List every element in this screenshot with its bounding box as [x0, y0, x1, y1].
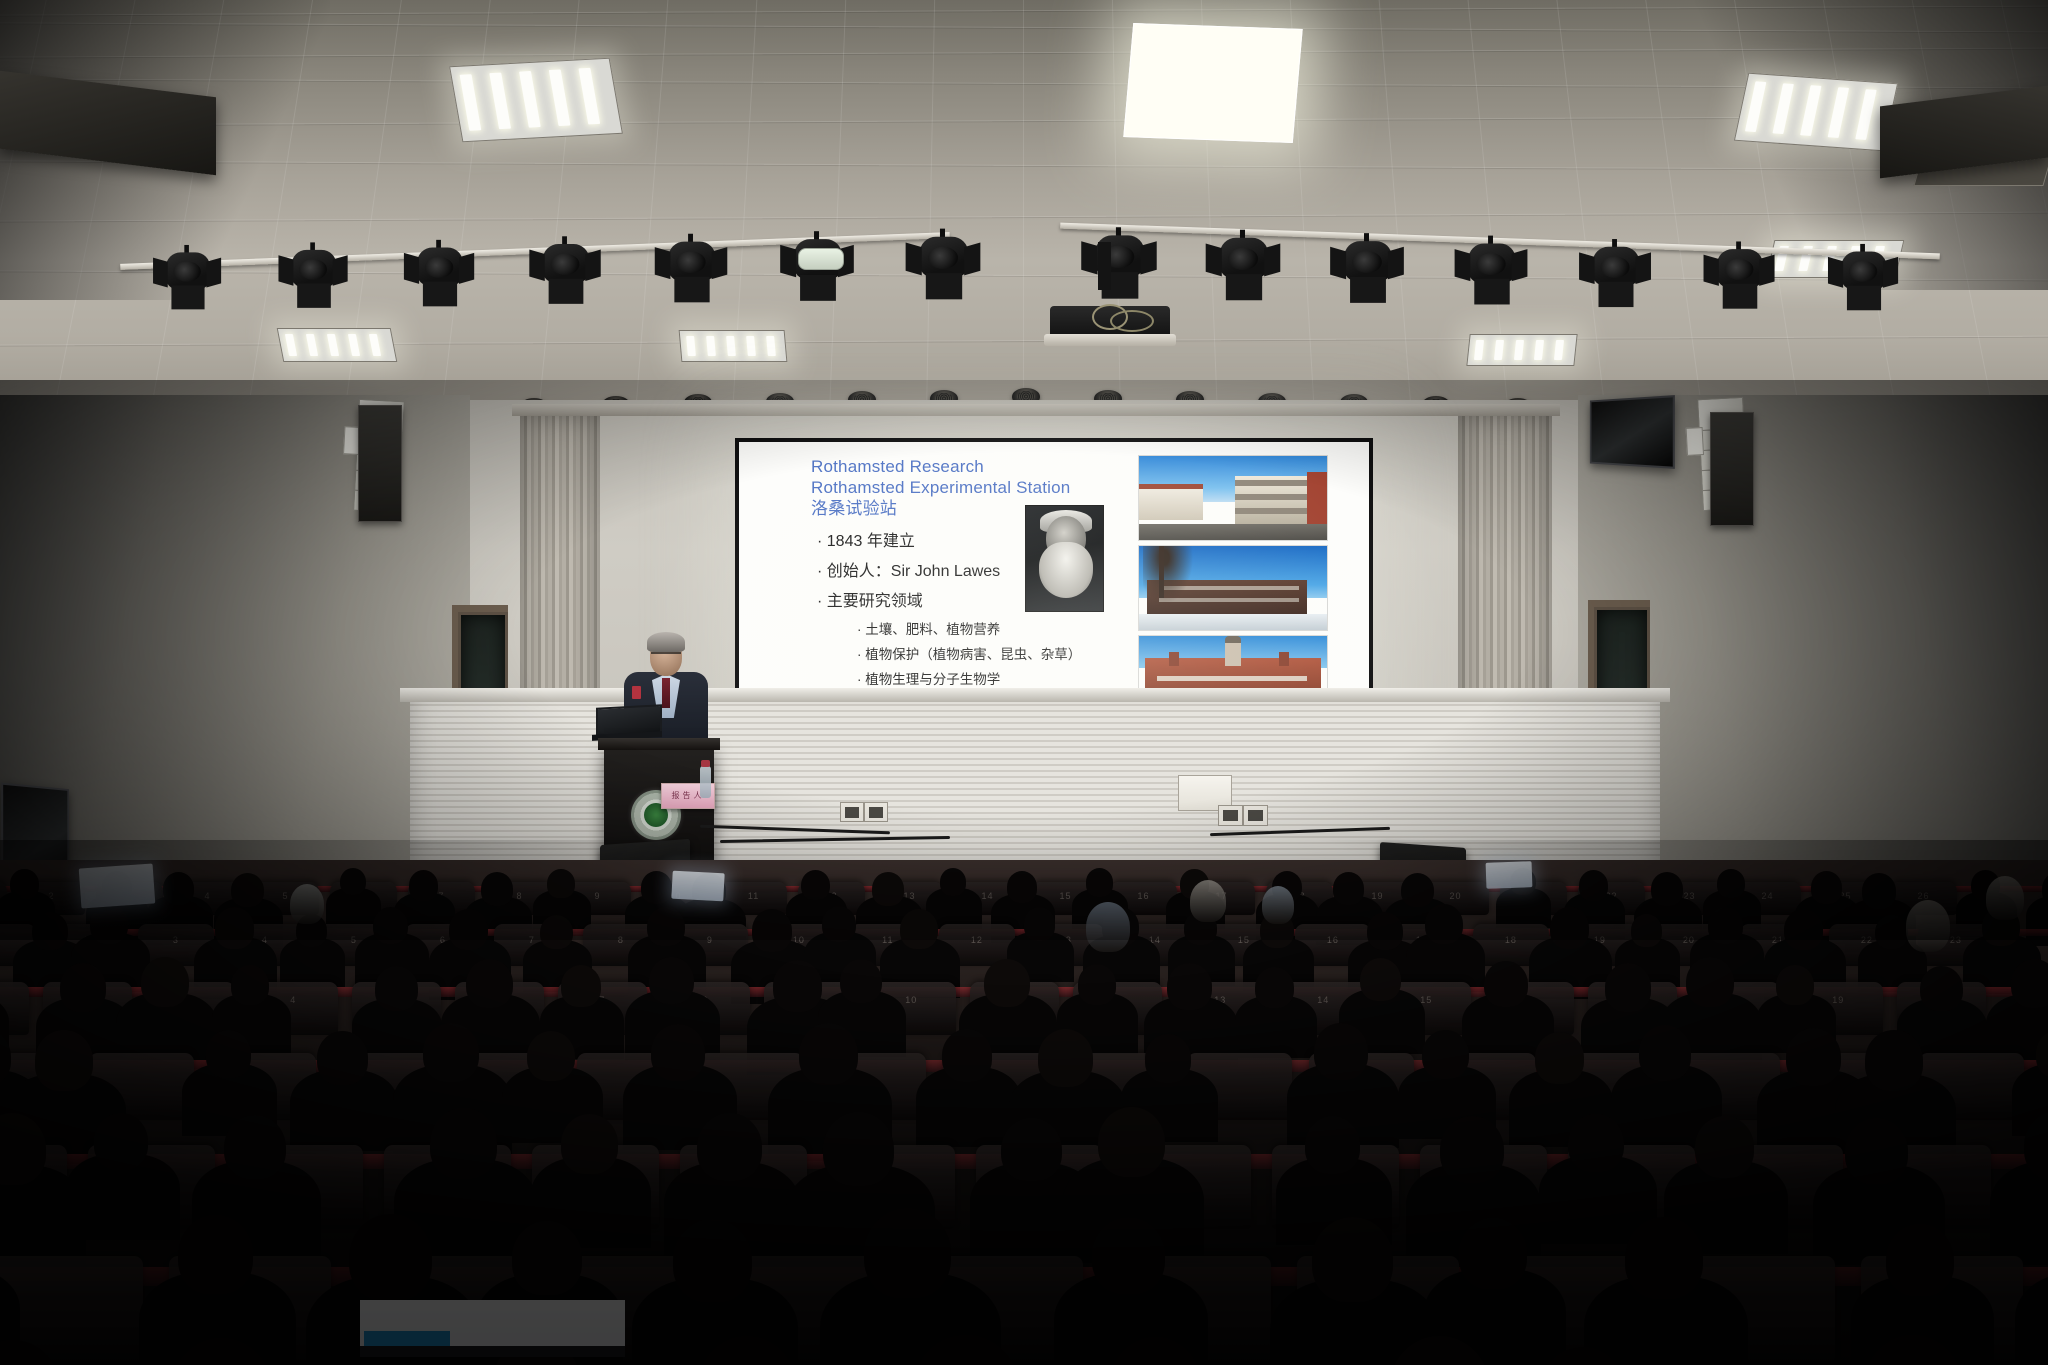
- spotlight-barn-door: [906, 242, 922, 275]
- slide-photo-modern-research-building: [1139, 456, 1327, 540]
- audience-member-lit: [1086, 902, 1130, 952]
- stage-spotlight: [1702, 241, 1779, 312]
- audience-member-head: [823, 1112, 894, 1186]
- spotlight-barn-door: [1759, 255, 1774, 286]
- spotlight-lens: [173, 262, 201, 282]
- ceiling: [0, 0, 2048, 420]
- audience-member-head: [60, 963, 106, 1011]
- audience-member-head: [527, 1031, 575, 1081]
- audience-member-head: [1440, 1116, 1504, 1183]
- stage-spotlight: [277, 242, 352, 311]
- audience-member-head: [561, 965, 601, 1007]
- audience-member-head: [1605, 963, 1651, 1011]
- attendee-laptop-screen: [1486, 861, 1533, 889]
- audience-member-head: [231, 965, 269, 1005]
- audience-member-head: [1422, 1030, 1469, 1079]
- audience-member-head: [1459, 1218, 1527, 1289]
- audience-member-head: [540, 915, 573, 950]
- presenter-laptop[interactable]: [592, 706, 662, 740]
- audience-member-head: [317, 1031, 368, 1085]
- audience-member-head: [373, 907, 408, 944]
- audience-member-head: [649, 957, 694, 1004]
- spotlight-barn-door: [1635, 252, 1651, 284]
- audience-member-head: [1886, 1224, 1954, 1296]
- projector-mount-pole: [1098, 242, 1111, 290]
- audience-member-lit: [1190, 880, 1226, 922]
- spotlight-barn-door: [1388, 247, 1404, 279]
- seat-number: 11: [748, 891, 759, 901]
- spotlight-barn-door: [1847, 286, 1881, 311]
- spotlight-barn-door: [1828, 257, 1843, 288]
- seat-number: 1: [0, 935, 1, 945]
- audience-member-head: [1865, 1030, 1922, 1090]
- audience-member-head: [466, 959, 513, 1008]
- audience-member-head: [1078, 964, 1117, 1005]
- audience-member-head: [340, 868, 366, 895]
- audience-member-head: [1686, 957, 1734, 1007]
- audience-member-head: [1651, 872, 1683, 906]
- stage-spotlight: [904, 228, 985, 303]
- audience-member-head: [799, 1023, 858, 1085]
- audience-member-head: [2011, 959, 2048, 1008]
- audience-member-head: [1875, 915, 1908, 950]
- spotlight-lens: [1600, 256, 1629, 277]
- ceiling-grid-line: [926, 0, 935, 420]
- ceiling-grid-line: [829, 0, 846, 420]
- spotlight-barn-door: [800, 275, 836, 301]
- audience-member-head: [141, 957, 189, 1007]
- audience-member-head: [641, 871, 672, 904]
- wall-speaker-dark-right: [1710, 412, 1754, 526]
- seat-number: 15: [1060, 891, 1072, 901]
- ceiling-projector: [1050, 286, 1170, 342]
- audience-member-head: [1086, 868, 1113, 896]
- seat-number: 3: [173, 935, 179, 945]
- audience-member-head: [1786, 1028, 1841, 1086]
- spotlight-barn-door: [423, 281, 457, 306]
- wall-outlet[interactable]: [864, 802, 888, 822]
- wall-mounted-display-right: [1590, 395, 1675, 469]
- spotlight-barn-door: [674, 277, 709, 302]
- audience-member-head: [697, 1113, 762, 1181]
- stage-spotlight: [151, 245, 225, 313]
- attendee-laptop-screen: [79, 863, 156, 908]
- bullet-marker: ·: [817, 563, 827, 580]
- podium-top: [598, 738, 720, 750]
- audience-member-head: [449, 909, 488, 950]
- audience-member-head: [1007, 871, 1038, 903]
- seat-number: 16: [1327, 935, 1339, 945]
- audience-member-head: [1360, 958, 1401, 1001]
- audience-member-lit: [1262, 886, 1294, 924]
- wall-outlet[interactable]: [1218, 805, 1243, 826]
- audience-member-head: [1579, 870, 1608, 901]
- audience-member-head: [215, 907, 255, 949]
- bullet-text: 土壤、肥料、植物营养: [865, 622, 1000, 637]
- laptop-screen-tile: [364, 1331, 450, 1346]
- seat-number: 8: [618, 935, 624, 945]
- wall-outlet[interactable]: [1243, 805, 1268, 826]
- audience-member-head: [1425, 904, 1463, 944]
- audience-member-head: [1401, 873, 1434, 908]
- audience-member-head: [163, 872, 195, 905]
- audience-member-head: [1333, 872, 1365, 905]
- stage-spotlight: [1453, 236, 1532, 309]
- seat-number: 10: [905, 995, 917, 1005]
- audience-member-head: [206, 1030, 251, 1078]
- bullet-marker: ·: [817, 593, 827, 610]
- seat-number: 24: [1762, 891, 1774, 901]
- spotlight-barn-door: [1704, 255, 1719, 286]
- audience-member-head: [647, 907, 684, 946]
- spotlight-barn-door: [549, 279, 584, 304]
- audience-member-head: [1001, 1118, 1061, 1181]
- ceiling-grid-line: [1379, 0, 1413, 420]
- spotlight-barn-door: [171, 285, 204, 309]
- audience-member-head: [10, 869, 38, 899]
- presenter-hair: [647, 632, 685, 652]
- seat-number: 18: [1505, 935, 1517, 945]
- spotlight-lens: [425, 257, 454, 278]
- portrait-sir-john-lawes: [1026, 506, 1103, 611]
- laptop-taskbar: [360, 1346, 625, 1357]
- audience-member-head: [1145, 1034, 1191, 1083]
- spotlight-barn-door: [655, 247, 671, 279]
- ceiling-grid-line: [440, 0, 490, 420]
- ceiling-grid-line: [1023, 0, 1024, 420]
- audience-member-head: [673, 1219, 752, 1302]
- spotlight-barn-door: [712, 247, 728, 279]
- bullet-text: 创始人：Sir John Lawes: [827, 563, 1000, 580]
- ceiling-light-fixture: [1123, 23, 1302, 143]
- audience-member-head: [1024, 907, 1056, 940]
- spotlight-barn-door: [1455, 249, 1471, 281]
- audience-member-head: [1535, 1032, 1584, 1084]
- seat-number: 12: [971, 935, 983, 945]
- spotlight-barn-door: [529, 250, 544, 281]
- smoke-detector: [798, 248, 844, 270]
- seat-number: 9: [595, 891, 601, 901]
- stage-spotlight: [527, 237, 604, 308]
- stage-spotlight: [1826, 244, 1902, 314]
- audience-seating-area: 1 2 3 4 5 6 7: [0, 860, 2048, 1365]
- stage-spotlight: [1328, 233, 1408, 307]
- presenter-tie: [662, 678, 670, 708]
- audience-member-head: [1920, 966, 1963, 1011]
- spotlight-lens: [928, 247, 958, 269]
- audience-member-lit: [1986, 876, 2024, 920]
- spotlight-lens: [1352, 251, 1382, 273]
- bullet-marker: ·: [857, 647, 865, 662]
- attendee-laptop-screen: [671, 871, 724, 902]
- stage-spotlight: [1204, 230, 1285, 305]
- ceiling-light-fixture: [449, 58, 623, 142]
- presenter-glasses: [651, 652, 681, 661]
- audience-member-head: [900, 909, 938, 949]
- seat-number: 16: [1138, 891, 1150, 901]
- audience-member-head: [801, 870, 830, 900]
- speaker-wing: [1686, 427, 1704, 456]
- audience-member-head: [822, 906, 857, 942]
- audience-member-head: [1776, 965, 1814, 1005]
- audience-member-head: [1550, 907, 1590, 949]
- spotlight-barn-door: [153, 258, 168, 288]
- audience-member-head: [409, 870, 438, 901]
- spotlight-barn-door: [926, 273, 962, 299]
- water-bottle-cap: [701, 760, 710, 767]
- water-bottle: [700, 766, 711, 798]
- audience-member-head: [1314, 1023, 1368, 1079]
- lecture-hall-photo: Rothamsted Research Rothamsted Experimen…: [0, 0, 2048, 1365]
- seat-number: 14: [982, 891, 994, 901]
- ceiling-light-fixture: [1734, 73, 1898, 152]
- audience-member-head: [1568, 1114, 1624, 1173]
- bullet-marker: ·: [817, 533, 827, 550]
- bullet-text: 主要研究领域: [827, 593, 923, 610]
- spotlight-barn-door: [964, 242, 980, 275]
- spotlight-barn-door: [1350, 277, 1386, 303]
- spotlight-barn-door: [1599, 281, 1634, 306]
- audience-member-head: [840, 959, 882, 1003]
- audience-member-head: [1639, 1025, 1692, 1080]
- spotlight-barn-door: [1723, 284, 1758, 309]
- spotlight-barn-door: [1883, 257, 1898, 288]
- slide-photo-brick-manor-winter: [1139, 546, 1327, 630]
- audience-member-head: [1312, 1217, 1393, 1302]
- audience-member-lit: [290, 884, 324, 924]
- audience-member-head: [90, 904, 128, 944]
- ceiling-light-fixture: [1466, 334, 1577, 366]
- spotlight-barn-door: [1330, 247, 1346, 279]
- seat-number: 19: [1832, 995, 1844, 1005]
- seat-number: 4: [205, 891, 211, 901]
- audience-member-head: [1811, 871, 1842, 904]
- audience-member-lit: [1906, 900, 1950, 952]
- stage-spotlight: [402, 239, 478, 309]
- audience-member-head: [32, 912, 68, 950]
- seat-number: 19: [1372, 891, 1384, 901]
- curtain-valance: [512, 404, 1560, 416]
- audience-member-head: [1631, 914, 1662, 947]
- audience-member-head: [35, 1030, 92, 1090]
- spotlight-barn-door: [1474, 279, 1509, 305]
- seat-number: 23: [1950, 935, 1962, 945]
- seat-number: 15: [1238, 935, 1250, 945]
- bullet-text: 植物保护（植物病害、昆虫、杂草）: [865, 647, 1081, 662]
- audience-member-head: [942, 1029, 992, 1082]
- audience-member-head: [561, 1114, 619, 1174]
- seat-number: 5: [283, 891, 289, 901]
- spotlight-barn-door: [1206, 244, 1222, 277]
- spotlight-barn-door: [1081, 241, 1097, 274]
- audience-member-head: [984, 959, 1030, 1008]
- audience-member-head: [1845, 1118, 1908, 1184]
- audience-member-head: [481, 872, 513, 906]
- stage-spotlight: [1577, 239, 1655, 311]
- audience-member-head: [1167, 963, 1212, 1010]
- audience-member-body: [2026, 896, 2048, 946]
- audience-member-head: [752, 909, 793, 952]
- ceiling-light-fixture: [679, 330, 788, 362]
- audience-member-head: [224, 1115, 286, 1180]
- audience-member-head: [773, 960, 822, 1012]
- audience-member-head: [1484, 961, 1528, 1007]
- audience-member-head: [512, 1221, 582, 1295]
- spotlight-barn-door: [1579, 252, 1595, 284]
- audience-member-head: [1862, 873, 1896, 909]
- spotlight-barn-door: [278, 255, 293, 285]
- spotlight-barn-door: [297, 283, 331, 307]
- audience-member-head: [1038, 1029, 1094, 1088]
- spotlight-barn-door: [1264, 244, 1280, 277]
- seat-number: 5: [351, 935, 357, 945]
- audience-member-head: [375, 966, 418, 1011]
- audience-member-head: [1625, 1217, 1703, 1299]
- spotlight-barn-door: [404, 252, 419, 283]
- audience-member-head: [864, 1208, 950, 1298]
- spotlight-barn-door: [206, 258, 221, 288]
- seat-number: 20: [1450, 891, 1462, 901]
- seat-number: 14: [1317, 995, 1329, 1005]
- audience-member-head: [1092, 1217, 1165, 1294]
- audience-member-head: [1367, 912, 1403, 950]
- audience-member-head: [178, 1215, 253, 1294]
- projector-cable: [1110, 310, 1154, 332]
- stage-spotlight: [653, 234, 731, 307]
- audience-member-head: [94, 1113, 148, 1170]
- audience-member-head: [940, 868, 967, 896]
- curtain-right: [1458, 412, 1552, 722]
- seat-number: 4: [290, 995, 296, 1005]
- audience-member-head: [1098, 1107, 1165, 1177]
- projector-ceiling-plate: [1044, 334, 1176, 346]
- audience-member-head: [1708, 907, 1743, 944]
- audience-member-head: [547, 869, 575, 898]
- ceiling-light-fixture: [277, 328, 398, 362]
- spotlight-barn-door: [333, 255, 348, 285]
- spotlight-lens: [299, 259, 327, 280]
- ceiling-grid-line: [1112, 0, 1121, 420]
- bullet-text: 1843 年建立: [827, 533, 915, 550]
- audience-member-head: [1305, 1116, 1360, 1174]
- audience-member-head: [1255, 967, 1294, 1008]
- spotlight-barn-door: [1512, 249, 1528, 281]
- audience-member-head: [872, 872, 904, 906]
- audience-member-head: [1717, 869, 1745, 898]
- audience-member-head: [430, 1108, 498, 1179]
- spotlight-barn-door: [585, 250, 600, 281]
- bullet-marker: ·: [857, 672, 865, 687]
- audience-member-head: [231, 873, 264, 908]
- wall-speaker-dark-left: [358, 405, 402, 522]
- portrait-beard: [1039, 542, 1093, 598]
- audience-member-head: [1784, 909, 1823, 950]
- spotlight-barn-door: [459, 252, 474, 283]
- wall-outlet[interactable]: [840, 802, 864, 822]
- stage-edge: [400, 688, 1670, 702]
- bullet-text: 植物生理与分子生物学: [865, 672, 1000, 687]
- spotlight-barn-door: [1140, 241, 1156, 274]
- bullet-marker: ·: [857, 622, 865, 637]
- audience-member-head: [423, 1023, 480, 1082]
- audience-member-head: [349, 1214, 431, 1301]
- curtain-left: [520, 412, 600, 722]
- spotlight-barn-door: [780, 245, 796, 277]
- spotlight-lens: [1725, 259, 1754, 280]
- presenter-lapel-badge: [632, 686, 641, 699]
- audience-member-head: [651, 1024, 705, 1081]
- spotlight-barn-door: [1226, 274, 1262, 300]
- audience-member-head: [1695, 1116, 1754, 1178]
- attendee-laptop-foreground[interactable]: [360, 1300, 625, 1365]
- ceiling-grid-line: [635, 0, 669, 420]
- seat-number: 9: [707, 935, 713, 945]
